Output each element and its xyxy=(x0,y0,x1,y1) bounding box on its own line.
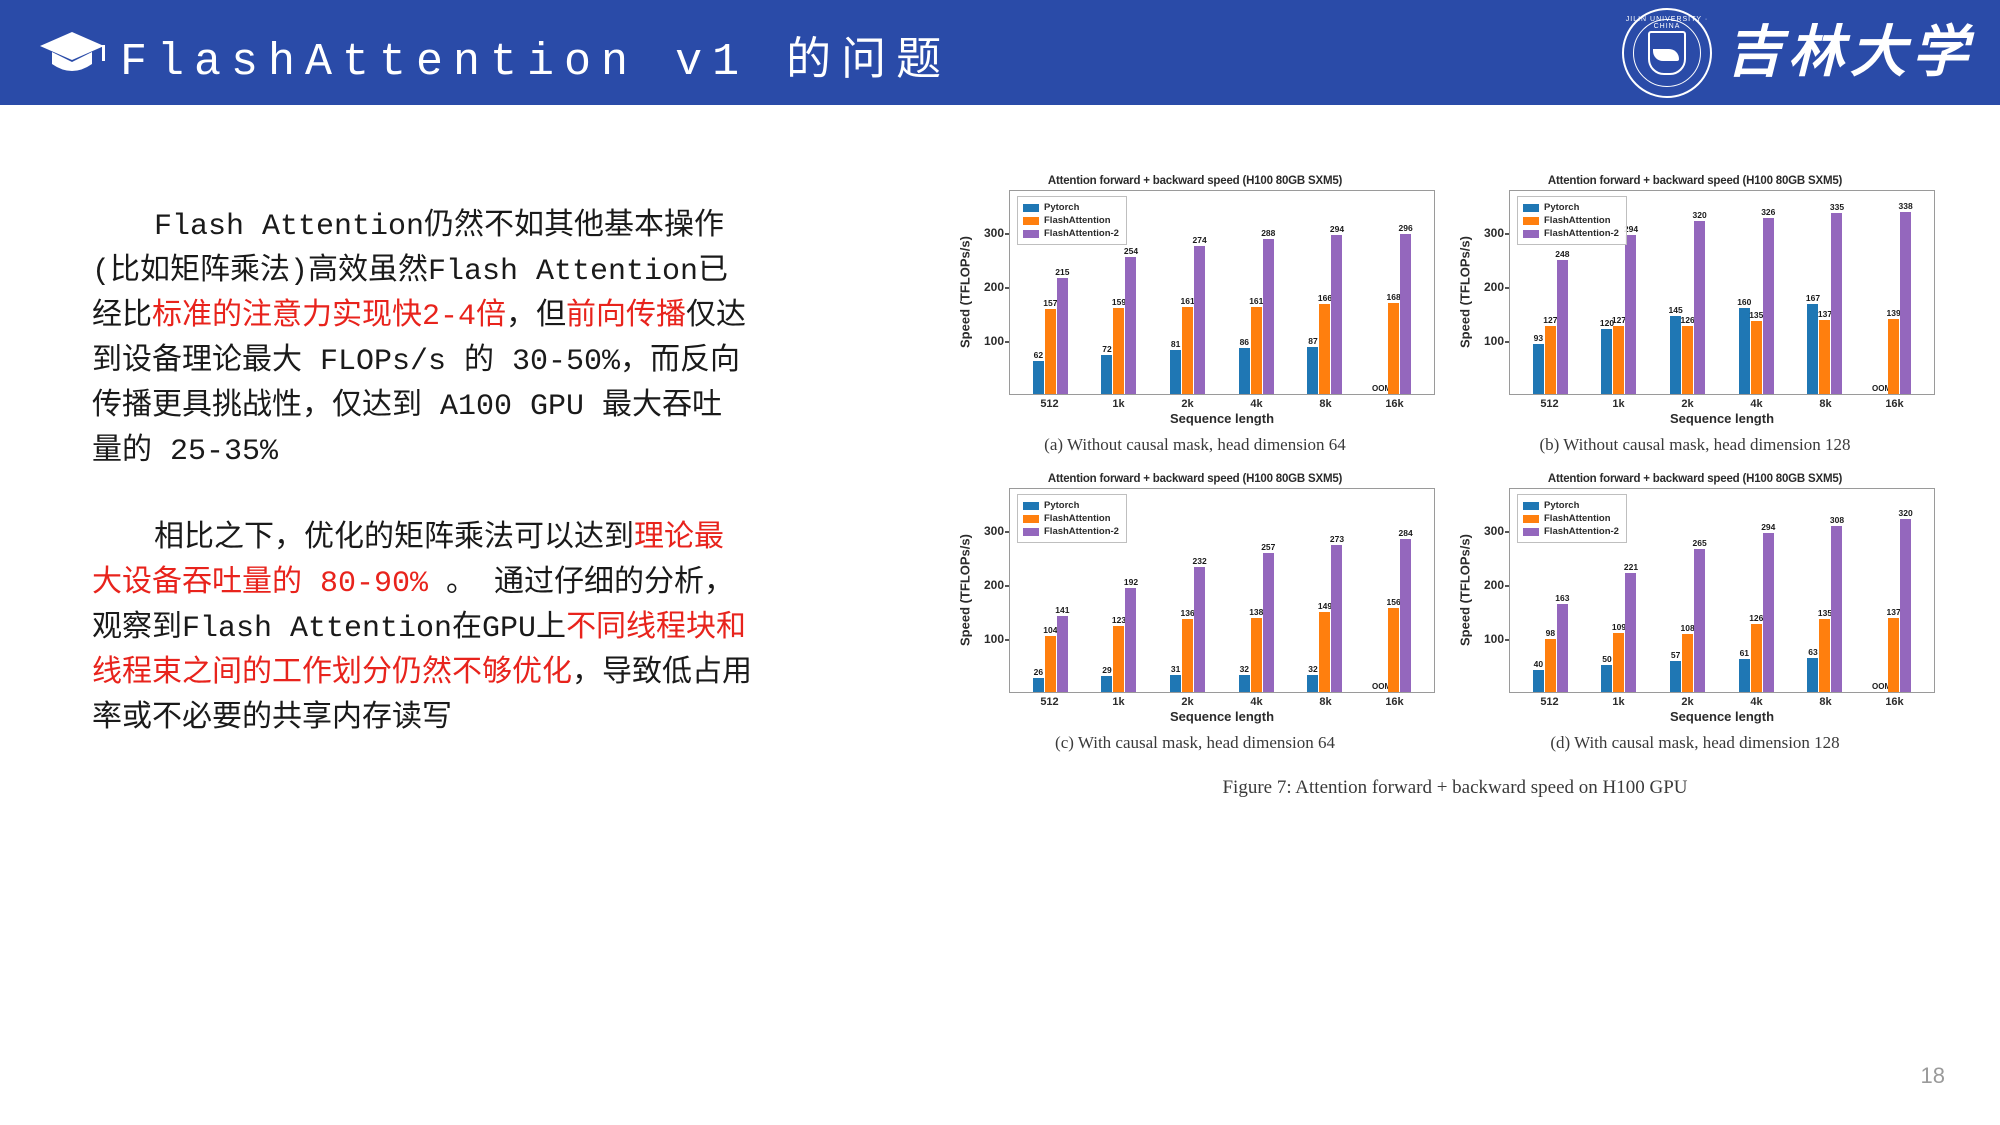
legend-label: FlashAttention-2 xyxy=(1044,227,1119,240)
x-axis-ticks: 5121k2k4k8k16k xyxy=(1509,395,1935,410)
bar-value-label: 273 xyxy=(1330,534,1344,544)
bar-flashattention-4k: 138 xyxy=(1251,618,1262,692)
chart-c: Attention forward + backward speed (H100… xyxy=(955,473,1435,763)
y-axis-label: Speed (TFLOPs/s) xyxy=(955,488,975,693)
x-tick-2k: 2k xyxy=(1658,696,1718,708)
slide-body-text: Flash Attention仍然不如其他基本操作(比如矩阵乘法)高效虽然Fla… xyxy=(92,205,752,784)
bar-value-label: 40 xyxy=(1534,659,1543,669)
bar-value-label: 254 xyxy=(1124,246,1138,256)
bar-pytorch-2k: 81 xyxy=(1170,350,1181,394)
bar-value-label: 160 xyxy=(1737,297,1751,307)
bar-value-label: 135 xyxy=(1749,310,1763,320)
bar-value-label: 215 xyxy=(1055,267,1069,277)
bar-value-label: 136 xyxy=(1181,608,1195,618)
bar-pytorch-512: 62 xyxy=(1033,361,1044,394)
bar-pytorch-8k: 63 xyxy=(1807,658,1818,692)
legend-item-flashattention: FlashAttention xyxy=(1523,214,1619,227)
x-tick-4k: 4k xyxy=(1727,696,1787,708)
bar-value-label: 81 xyxy=(1171,339,1180,349)
seal-shield-icon xyxy=(1648,31,1686,75)
bar-flashattention-4k: 126 xyxy=(1751,624,1762,692)
bar-flashattention-2-2k: 274 xyxy=(1194,246,1205,394)
bar-pytorch-4k: 61 xyxy=(1739,659,1750,692)
x-tick-1k: 1k xyxy=(1589,696,1649,708)
x-tick-16k: 16k xyxy=(1865,696,1925,708)
chart-d: Attention forward + backward speed (H100… xyxy=(1455,473,1935,763)
bar-value-label: 29 xyxy=(1102,665,1111,675)
page-number: 18 xyxy=(1921,1063,1945,1089)
plot-area: PytorchFlashAttentionFlashAttention-2261… xyxy=(1009,488,1435,693)
legend-item-flashattention-2: FlashAttention-2 xyxy=(1523,227,1619,240)
bar-pytorch-1k: 120 xyxy=(1601,329,1612,394)
bar-flashattention-4k: 161 xyxy=(1251,307,1262,394)
bar-flashattention-2-8k: 308 xyxy=(1831,526,1842,692)
bar-value-label: 320 xyxy=(1693,210,1707,220)
y-axis-label: Speed (TFLOPs/s) xyxy=(1455,190,1475,395)
bar-flashattention-2-4k: 257 xyxy=(1263,553,1274,692)
bar-pytorch-8k: 167 xyxy=(1807,304,1818,394)
paragraph-2: 相比之下，优化的矩阵乘法可以达到理论最大设备吞吐量的 80-90% 。 通过仔细… xyxy=(92,517,752,742)
legend-item-pytorch: Pytorch xyxy=(1523,201,1619,214)
bar-value-label: 221 xyxy=(1624,562,1638,572)
chart-grid: Attention forward + backward speed (H100… xyxy=(955,175,1955,763)
page-title: FlashAttention v1 的问题 xyxy=(120,22,951,88)
legend-swatch-icon xyxy=(1023,515,1039,523)
bar-value-label: 57 xyxy=(1671,650,1680,660)
x-tick-1k: 1k xyxy=(1589,398,1649,410)
bar-flashattention-2-1k: 254 xyxy=(1125,257,1136,394)
bar-pytorch-8k: 32 xyxy=(1307,675,1318,692)
legend-swatch-icon xyxy=(1023,528,1039,536)
paragraph-1: Flash Attention仍然不如其他基本操作(比如矩阵乘法)高效虽然Fla… xyxy=(92,205,752,475)
chart-legend: PytorchFlashAttentionFlashAttention-2 xyxy=(1517,494,1627,543)
legend-item-pytorch: Pytorch xyxy=(1023,499,1119,512)
bar-pytorch-2k: 31 xyxy=(1170,675,1181,692)
bar-value-label: 98 xyxy=(1546,628,1555,638)
x-tick-16k: 16k xyxy=(1865,398,1925,410)
y-tick-200: 200 xyxy=(1484,280,1504,294)
bar-group-8k: 167137335 xyxy=(1807,191,1842,394)
legend-label: Pytorch xyxy=(1044,201,1079,214)
bar-value-label: 161 xyxy=(1181,296,1195,306)
bar-group-16k: OOM168296 xyxy=(1376,191,1411,394)
bar-value-label: 335 xyxy=(1830,202,1844,212)
bar-value-label: 288 xyxy=(1261,228,1275,238)
plot-area: PytorchFlashAttentionFlashAttention-2931… xyxy=(1509,190,1935,395)
bar-pytorch-2k: 57 xyxy=(1670,661,1681,692)
bar-group-4k: 86161288 xyxy=(1239,191,1274,394)
y-axis-ticks: 100200300 xyxy=(1475,190,1509,395)
bar-value-label: 248 xyxy=(1555,249,1569,259)
bar-flashattention-1k: 159 xyxy=(1113,308,1124,394)
y-tick-100: 100 xyxy=(1484,334,1504,348)
legend-swatch-icon xyxy=(1023,204,1039,212)
bar-value-label: 161 xyxy=(1249,296,1263,306)
bar-group-4k: 32138257 xyxy=(1239,489,1274,692)
legend-item-flashattention-2: FlashAttention-2 xyxy=(1023,525,1119,538)
bar-value-label: 159 xyxy=(1112,297,1126,307)
bar-value-label: 137 xyxy=(1887,607,1901,617)
legend-label: FlashAttention-2 xyxy=(1044,525,1119,538)
legend-label: Pytorch xyxy=(1544,499,1579,512)
y-tick-300: 300 xyxy=(1484,226,1504,240)
bar-value-label: 296 xyxy=(1399,223,1413,233)
bar-flashattention-2k: 108 xyxy=(1682,634,1693,692)
bar-value-label: 63 xyxy=(1808,647,1817,657)
y-axis-ticks: 100200300 xyxy=(975,488,1009,693)
bar-value-label: 26 xyxy=(1034,667,1043,677)
legend-label: Pytorch xyxy=(1544,201,1579,214)
plot-area: PytorchFlashAttentionFlashAttention-2409… xyxy=(1509,488,1935,693)
legend-item-flashattention: FlashAttention xyxy=(1023,214,1119,227)
chart-b: Attention forward + backward speed (H100… xyxy=(1455,175,1935,465)
legend-swatch-icon xyxy=(1023,217,1039,225)
university-seal-icon: JILIN UNIVERSITY · CHINA 1946 xyxy=(1622,8,1712,98)
bar-value-label: 109 xyxy=(1612,622,1626,632)
x-tick-2k: 2k xyxy=(1158,696,1218,708)
p1-seg3: ，但 xyxy=(506,300,566,334)
bar-value-label: 137 xyxy=(1818,309,1832,319)
p1-highlight-2: 前向传播 xyxy=(566,300,686,334)
chart-subcaption-b: (b) Without causal mask, head dimension … xyxy=(1455,435,1935,455)
bar-value-label: 86 xyxy=(1240,337,1249,347)
bar-value-label: 166 xyxy=(1318,293,1332,303)
chart-title: Attention forward + backward speed (H100… xyxy=(955,175,1435,187)
legend-swatch-icon xyxy=(1023,502,1039,510)
bar-value-label: 157 xyxy=(1043,298,1057,308)
legend-label: FlashAttention xyxy=(1044,512,1111,525)
bar-value-label: 284 xyxy=(1399,528,1413,538)
bar-value-label: 104 xyxy=(1043,625,1057,635)
bar-value-label: 163 xyxy=(1555,593,1569,603)
x-tick-16k: 16k xyxy=(1365,398,1425,410)
bar-flashattention-2-8k: 294 xyxy=(1331,235,1342,394)
bar-value-label: 149 xyxy=(1318,601,1332,611)
bar-pytorch-2k: 145 xyxy=(1670,316,1681,394)
legend-label: FlashAttention xyxy=(1544,214,1611,227)
bar-value-label: 168 xyxy=(1387,292,1401,302)
y-tick-200: 200 xyxy=(984,578,1004,592)
bar-flashattention-2-16k: 284 xyxy=(1400,539,1411,692)
bar-flashattention-2-512: 248 xyxy=(1557,260,1568,394)
x-tick-1k: 1k xyxy=(1089,696,1149,708)
bar-value-label: 139 xyxy=(1887,308,1901,318)
bar-pytorch-4k: 160 xyxy=(1739,308,1750,394)
bar-group-2k: 145126320 xyxy=(1670,191,1705,394)
y-tick-200: 200 xyxy=(984,280,1004,294)
slide-header: FlashAttention v1 的问题 JILIN UNIVERSITY ·… xyxy=(0,0,2000,105)
chart-legend: PytorchFlashAttentionFlashAttention-2 xyxy=(1517,196,1627,245)
bar-pytorch-1k: 72 xyxy=(1101,355,1112,394)
x-tick-1k: 1k xyxy=(1089,398,1149,410)
x-axis-label: Sequence length xyxy=(1509,709,1935,724)
bar-flashattention-8k: 137 xyxy=(1819,320,1830,394)
bar-value-label: 138 xyxy=(1249,607,1263,617)
bar-pytorch-4k: 32 xyxy=(1239,675,1250,692)
bar-value-label: 326 xyxy=(1761,207,1775,217)
legend-label: FlashAttention-2 xyxy=(1544,525,1619,538)
x-tick-512: 512 xyxy=(1520,696,1580,708)
bar-value-label: 135 xyxy=(1818,608,1832,618)
bar-flashattention-8k: 135 xyxy=(1819,619,1830,692)
legend-item-pytorch: Pytorch xyxy=(1523,499,1619,512)
legend-item-flashattention: FlashAttention xyxy=(1023,512,1119,525)
x-tick-2k: 2k xyxy=(1158,398,1218,410)
legend-item-flashattention: FlashAttention xyxy=(1523,512,1619,525)
x-axis-label: Sequence length xyxy=(1509,411,1935,426)
bar-flashattention-512: 98 xyxy=(1545,639,1556,692)
x-tick-8k: 8k xyxy=(1296,398,1356,410)
bar-group-16k: OOM156284 xyxy=(1376,489,1411,692)
bar-flashattention-2-1k: 192 xyxy=(1125,588,1136,692)
bar-pytorch-1k: 50 xyxy=(1601,665,1612,692)
bar-flashattention-512: 127 xyxy=(1545,326,1556,395)
bar-flashattention-2-512: 163 xyxy=(1557,604,1568,692)
bar-flashattention-16k: 168 xyxy=(1388,303,1399,394)
bar-flashattention-2k: 136 xyxy=(1182,619,1193,692)
legend-swatch-icon xyxy=(1523,528,1539,536)
p2-seg1: 相比之下，优化的矩阵乘法可以达到 xyxy=(154,522,634,556)
bar-flashattention-2-2k: 265 xyxy=(1694,549,1705,692)
bar-flashattention-8k: 149 xyxy=(1319,612,1330,692)
legend-swatch-icon xyxy=(1523,502,1539,510)
legend-label: FlashAttention xyxy=(1044,214,1111,227)
bar-value-label: 274 xyxy=(1193,235,1207,245)
x-axis-ticks: 5121k2k4k8k16k xyxy=(1509,693,1935,708)
bar-flashattention-2-4k: 294 xyxy=(1763,533,1774,692)
x-tick-512: 512 xyxy=(1020,398,1080,410)
legend-item-flashattention-2: FlashAttention-2 xyxy=(1023,227,1119,240)
bar-value-label: 93 xyxy=(1534,333,1543,343)
chart-legend: PytorchFlashAttentionFlashAttention-2 xyxy=(1017,494,1127,543)
y-tick-100: 100 xyxy=(1484,632,1504,646)
bar-pytorch-512: 40 xyxy=(1533,670,1544,692)
bar-value-label: 141 xyxy=(1055,605,1069,615)
bar-group-16k: OOM139338 xyxy=(1876,191,1911,394)
bar-flashattention-2-2k: 320 xyxy=(1694,221,1705,394)
university-name: 吉林大学 xyxy=(1726,25,1974,81)
bar-value-label: 156 xyxy=(1387,597,1401,607)
bar-value-label: 338 xyxy=(1899,201,1913,211)
figure-caption: Figure 7: Attention forward + backward s… xyxy=(955,777,1955,799)
bar-flashattention-512: 157 xyxy=(1045,309,1056,394)
x-axis-ticks: 5121k2k4k8k16k xyxy=(1009,693,1435,708)
legend-swatch-icon xyxy=(1023,230,1039,238)
bar-value-label: 308 xyxy=(1830,515,1844,525)
bar-group-2k: 31136232 xyxy=(1170,489,1205,692)
bar-value-label: 192 xyxy=(1124,577,1138,587)
bar-group-4k: 61126294 xyxy=(1739,489,1774,692)
bar-flashattention-2-1k: 221 xyxy=(1625,573,1636,692)
figure-7: Attention forward + backward speed (H100… xyxy=(955,175,1955,815)
bar-flashattention-16k: 139 xyxy=(1888,319,1899,394)
bar-value-label: 61 xyxy=(1740,648,1749,658)
legend-label: FlashAttention xyxy=(1544,512,1611,525)
legend-swatch-icon xyxy=(1523,204,1539,212)
x-tick-4k: 4k xyxy=(1227,696,1287,708)
bar-flashattention-2-4k: 288 xyxy=(1263,239,1274,394)
bar-flashattention-2-4k: 326 xyxy=(1763,218,1774,394)
bar-flashattention-2-1k: 294 xyxy=(1625,235,1636,394)
bar-pytorch-1k: 29 xyxy=(1101,676,1112,692)
x-tick-2k: 2k xyxy=(1658,398,1718,410)
y-tick-200: 200 xyxy=(1484,578,1504,592)
bar-pytorch-8k: 87 xyxy=(1307,347,1318,394)
bar-value-label: 126 xyxy=(1681,315,1695,325)
bar-value-label: 167 xyxy=(1806,293,1820,303)
legend-swatch-icon xyxy=(1523,515,1539,523)
chart-title: Attention forward + backward speed (H100… xyxy=(1455,175,1935,187)
legend-label: Pytorch xyxy=(1044,499,1079,512)
p1-highlight-1: 标准的注意力实现快2-4倍 xyxy=(152,300,506,334)
x-tick-4k: 4k xyxy=(1227,398,1287,410)
chart-title: Attention forward + backward speed (H100… xyxy=(955,473,1435,485)
x-tick-512: 512 xyxy=(1520,398,1580,410)
bar-value-label: 127 xyxy=(1612,315,1626,325)
chart-title: Attention forward + backward speed (H100… xyxy=(1455,473,1935,485)
chart-legend: PytorchFlashAttentionFlashAttention-2 xyxy=(1017,196,1127,245)
bar-flashattention-2-16k: 320 xyxy=(1900,519,1911,692)
bar-group-2k: 81161274 xyxy=(1170,191,1205,394)
bar-group-8k: 87166294 xyxy=(1307,191,1342,394)
legend-label: FlashAttention-2 xyxy=(1544,227,1619,240)
university-logo: JILIN UNIVERSITY · CHINA 1946 吉林大学 xyxy=(1622,8,1974,98)
x-tick-8k: 8k xyxy=(1796,696,1856,708)
legend-swatch-icon xyxy=(1523,217,1539,225)
bar-value-label: 126 xyxy=(1749,613,1763,623)
y-tick-100: 100 xyxy=(984,632,1004,646)
chart-subcaption-c: (c) With causal mask, head dimension 64 xyxy=(955,733,1435,753)
bar-flashattention-2-8k: 335 xyxy=(1831,213,1842,394)
bar-pytorch-512: 26 xyxy=(1033,678,1044,692)
bar-flashattention-1k: 123 xyxy=(1113,626,1124,692)
y-axis-ticks: 100200300 xyxy=(975,190,1009,395)
bar-flashattention-2-2k: 232 xyxy=(1194,567,1205,692)
bar-group-8k: 32149273 xyxy=(1307,489,1342,692)
y-axis-ticks: 100200300 xyxy=(1475,488,1509,693)
bar-value-label: 72 xyxy=(1102,344,1111,354)
bar-value-label: 123 xyxy=(1112,615,1126,625)
bar-flashattention-8k: 166 xyxy=(1319,304,1330,394)
bar-group-2k: 57108265 xyxy=(1670,489,1705,692)
bar-flashattention-2-16k: 338 xyxy=(1900,212,1911,394)
bar-value-label: 87 xyxy=(1308,336,1317,346)
x-tick-8k: 8k xyxy=(1296,696,1356,708)
x-axis-label: Sequence length xyxy=(1009,411,1435,426)
bar-value-label: 32 xyxy=(1240,664,1249,674)
x-tick-512: 512 xyxy=(1020,696,1080,708)
bar-value-label: 145 xyxy=(1669,305,1683,315)
y-tick-300: 300 xyxy=(984,226,1004,240)
bar-flashattention-2-512: 141 xyxy=(1057,616,1068,692)
y-tick-100: 100 xyxy=(984,334,1004,348)
bar-value-label: 108 xyxy=(1681,623,1695,633)
legend-item-flashattention-2: FlashAttention-2 xyxy=(1523,525,1619,538)
bar-flashattention-512: 104 xyxy=(1045,636,1056,692)
bar-value-label: 294 xyxy=(1761,522,1775,532)
x-tick-8k: 8k xyxy=(1796,398,1856,410)
legend-item-pytorch: Pytorch xyxy=(1023,201,1119,214)
seal-ring-text: JILIN UNIVERSITY · CHINA xyxy=(1624,16,1710,30)
bar-value-label: 31 xyxy=(1171,664,1180,674)
y-tick-300: 300 xyxy=(1484,524,1504,538)
bar-pytorch-4k: 86 xyxy=(1239,348,1250,394)
y-axis-label: Speed (TFLOPs/s) xyxy=(955,190,975,395)
bar-flashattention-16k: 156 xyxy=(1388,608,1399,692)
bar-value-label: 232 xyxy=(1193,556,1207,566)
bar-flashattention-2-16k: 296 xyxy=(1400,234,1411,394)
bar-flashattention-2-8k: 273 xyxy=(1331,545,1342,692)
y-axis-label: Speed (TFLOPs/s) xyxy=(1455,488,1475,693)
x-axis-label: Sequence length xyxy=(1009,709,1435,724)
chart-subcaption-d: (d) With causal mask, head dimension 128 xyxy=(1455,733,1935,753)
bar-value-label: 265 xyxy=(1693,538,1707,548)
chart-a: Attention forward + backward speed (H100… xyxy=(955,175,1435,465)
bar-value-label: 62 xyxy=(1034,350,1043,360)
bar-pytorch-512: 93 xyxy=(1533,344,1544,394)
chart-subcaption-a: (a) Without causal mask, head dimension … xyxy=(955,435,1435,455)
legend-swatch-icon xyxy=(1523,230,1539,238)
bar-flashattention-1k: 127 xyxy=(1613,326,1624,395)
bar-value-label: 32 xyxy=(1308,664,1317,674)
bar-value-label: 294 xyxy=(1330,224,1344,234)
bar-value-label: 257 xyxy=(1261,542,1275,552)
graduation-cap-icon xyxy=(38,30,106,78)
bar-flashattention-4k: 135 xyxy=(1751,321,1762,394)
bar-group-4k: 160135326 xyxy=(1739,191,1774,394)
bar-group-16k: OOM137320 xyxy=(1876,489,1911,692)
bar-group-8k: 63135308 xyxy=(1807,489,1842,692)
x-tick-4k: 4k xyxy=(1727,398,1787,410)
x-axis-ticks: 5121k2k4k8k16k xyxy=(1009,395,1435,410)
bar-value-label: 50 xyxy=(1602,654,1611,664)
x-tick-16k: 16k xyxy=(1365,696,1425,708)
bar-flashattention-2k: 161 xyxy=(1182,307,1193,394)
y-tick-300: 300 xyxy=(984,524,1004,538)
bar-flashattention-16k: 137 xyxy=(1888,618,1899,692)
bar-flashattention-1k: 109 xyxy=(1613,633,1624,692)
bar-flashattention-2-512: 215 xyxy=(1057,278,1068,394)
plot-area: PytorchFlashAttentionFlashAttention-2621… xyxy=(1009,190,1435,395)
bar-value-label: 127 xyxy=(1543,315,1557,325)
bar-value-label: 320 xyxy=(1899,508,1913,518)
bar-flashattention-2k: 126 xyxy=(1682,326,1693,394)
